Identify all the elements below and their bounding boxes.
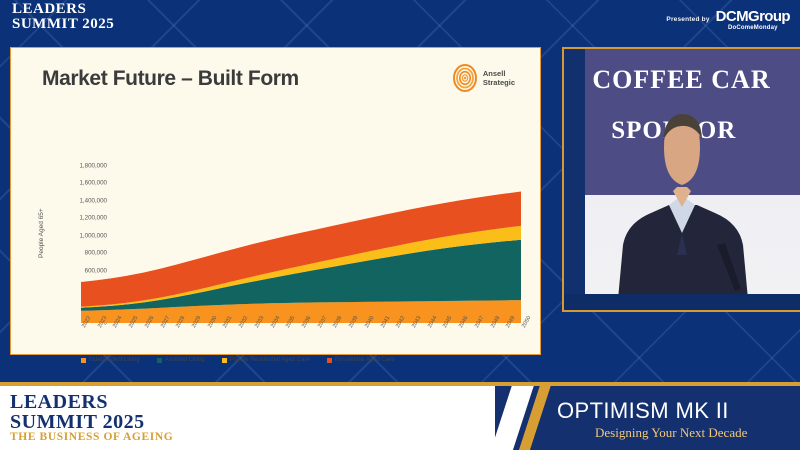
- slide-title: Market Future – Built Form: [42, 67, 299, 91]
- tree-rings-icon: [452, 64, 478, 92]
- legend-label: Residential Aged Care: [335, 357, 395, 363]
- bottom-banner: LEADERS SUMMIT 2025 THE BUSINESS OF AGEI…: [0, 386, 800, 450]
- ansell-strategic-logo: Ansell Strategic: [452, 64, 515, 92]
- sponsor-name: DCMGroup: [716, 8, 790, 25]
- ansell-logo-line2: Strategic: [483, 78, 515, 87]
- legend-label: Assisted Living: [165, 357, 205, 363]
- legend-item[interactable]: Private Residential Aged Care: [222, 357, 310, 363]
- legend-swatch: [157, 358, 162, 363]
- legend-item[interactable]: Assisted Living: [157, 357, 205, 363]
- header-brand-line1: LEADERS: [12, 2, 114, 17]
- header-brand-line2: SUMMIT 2025: [12, 17, 114, 32]
- legend-item[interactable]: Residential Aged Care: [327, 357, 395, 363]
- legend-swatch: [81, 358, 86, 363]
- chart-legend: Independent LivingAssisted LivingPrivate…: [81, 357, 531, 363]
- y-axis-label: People Aged 65+: [38, 208, 45, 258]
- ansell-logo-text: Ansell Strategic: [483, 69, 515, 87]
- header-sponsor: Presented by DCMGroup DoComeMonday: [666, 8, 790, 31]
- chart-plot-area: [81, 166, 521, 323]
- video-bottom-bar: [564, 294, 800, 310]
- banner-brand-tagline: THE BUSINESS OF AGEING: [10, 432, 173, 444]
- banner-brand-line2: SUMMIT 2025: [10, 412, 173, 432]
- banner-brand-line1: LEADERS: [10, 392, 173, 412]
- area-series-svg: [81, 166, 521, 323]
- banner-session-block: OPTIMISM MK II Designing Your Next Decad…: [495, 386, 800, 450]
- legend-swatch: [222, 358, 227, 363]
- x-axis-tick: 2050: [521, 315, 532, 329]
- sponsor-logo: DCMGroup DoComeMonday: [716, 8, 790, 31]
- video-left-edge: [564, 49, 585, 310]
- speaker-video-panel[interactable]: COFFEE CAR SPONSOR: [562, 47, 800, 312]
- sponsor-tagline: DoComeMonday: [716, 25, 790, 31]
- header-brand: LEADERS SUMMIT 2025: [12, 2, 114, 33]
- video-backdrop-line1: COFFEE CAR: [592, 65, 770, 95]
- ansell-logo-line1: Ansell: [483, 69, 506, 78]
- legend-swatch: [327, 358, 332, 363]
- x-axis-ticks: 2022202320242025202620272028202920302031…: [81, 326, 521, 354]
- session-subtitle: Designing Your Next Decade: [595, 425, 747, 441]
- presentation-slide: Market Future – Built Form Ansell Strate…: [10, 47, 541, 355]
- presented-by-label: Presented by: [666, 16, 709, 23]
- session-title: OPTIMISM MK II: [557, 398, 729, 424]
- legend-label: Independent Living: [89, 357, 140, 363]
- speaker-figure: [607, 95, 757, 310]
- legend-label: Private Residential Aged Care: [230, 357, 310, 363]
- banner-brand: LEADERS SUMMIT 2025 THE BUSINESS OF AGEI…: [10, 392, 173, 444]
- legend-item[interactable]: Independent Living: [81, 357, 140, 363]
- stacked-area-chart: People Aged 65+ 1,800,0001,600,0001,400,…: [11, 108, 542, 356]
